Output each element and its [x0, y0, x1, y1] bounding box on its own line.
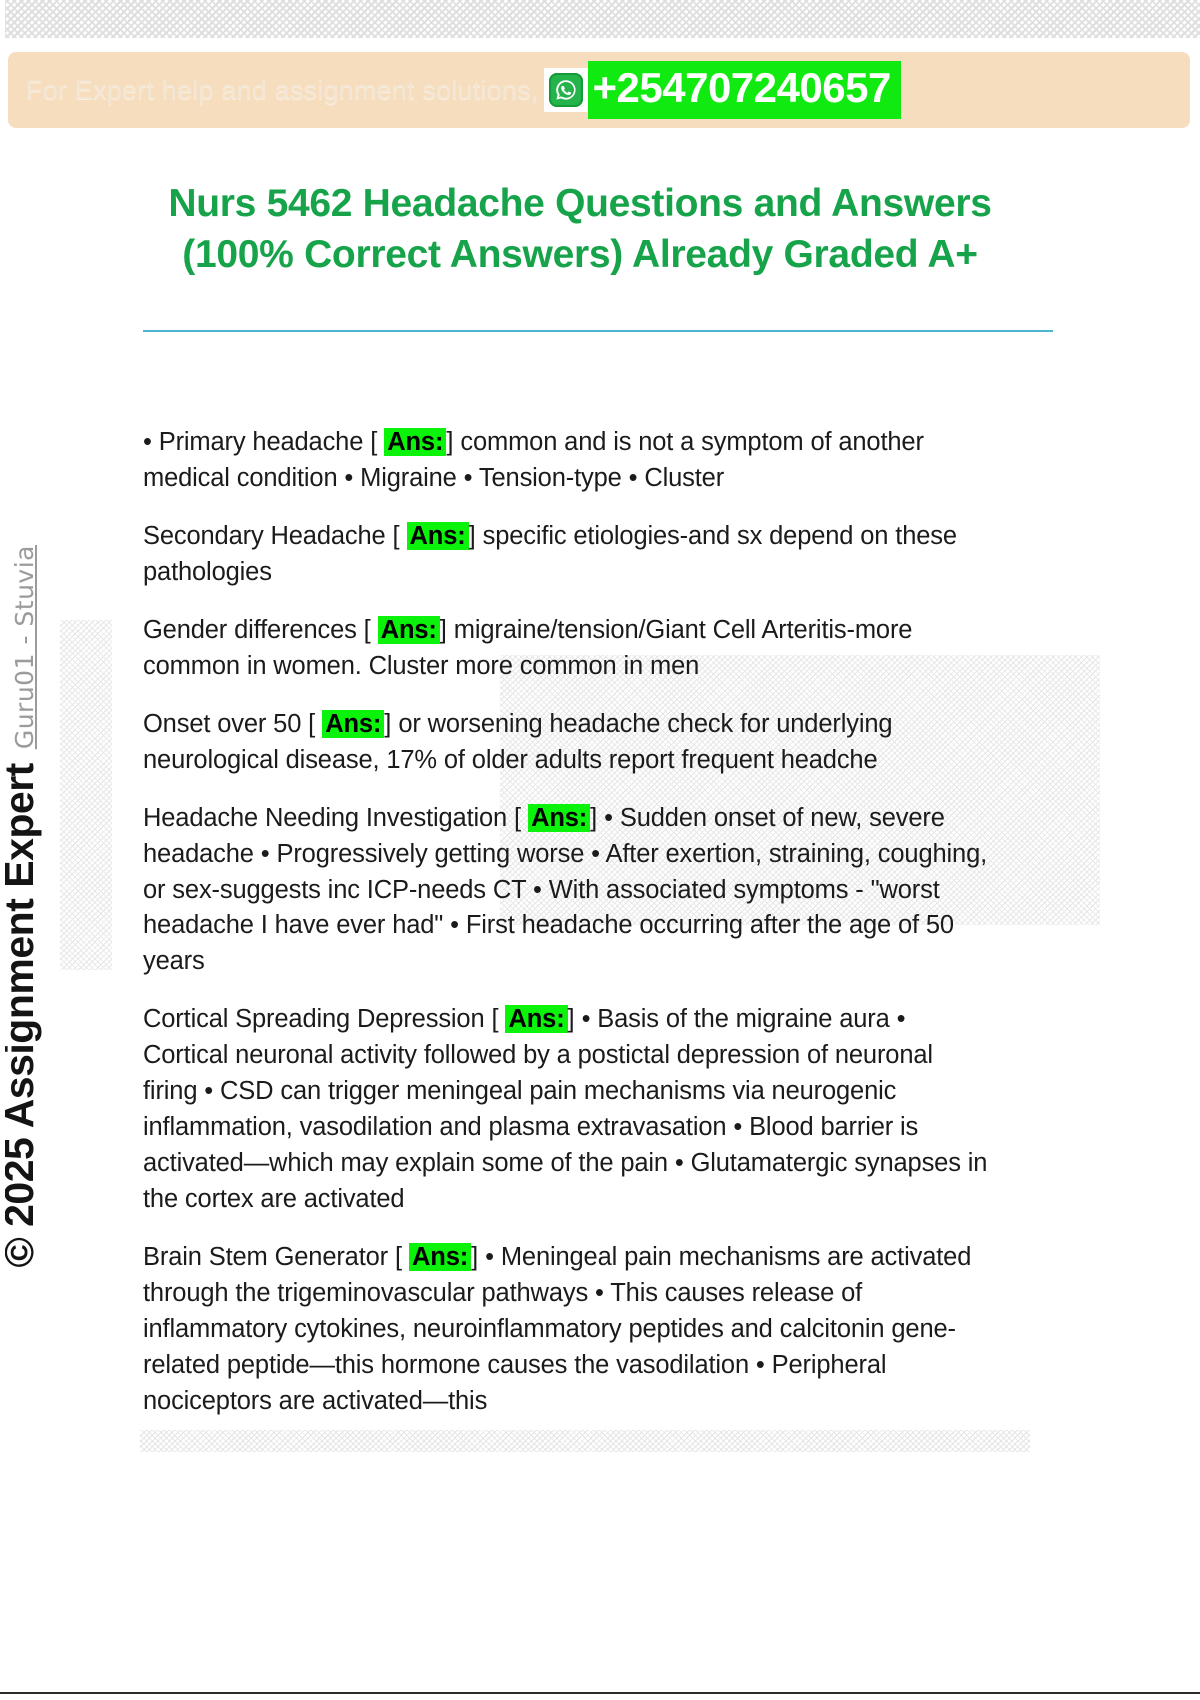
qa-paragraph-gender-differences: Gender differences [ Ans:] migraine/tens…	[143, 613, 988, 685]
qa-paragraph-secondary-headache: Secondary Headache [ Ans:] specific etio…	[143, 519, 988, 591]
bracket-close: ]	[590, 804, 597, 832]
page-left-edge	[0, 0, 5, 1700]
answer-tag: Ans:	[407, 522, 469, 550]
answer-tag: Ans:	[384, 428, 446, 456]
bracket-close: ]	[568, 1005, 575, 1033]
document-page: For Expert help and assignment solutions…	[0, 0, 1200, 1700]
question-lead: Secondary Headache	[143, 522, 386, 550]
bracket-close: ]	[384, 710, 391, 738]
whatsapp-icon	[549, 73, 583, 107]
question-lead: Gender differences	[143, 616, 357, 644]
question-lead: Cortical Spreading Depression	[143, 1005, 485, 1033]
document-body: • Primary headache [ Ans:] common and is…	[143, 425, 988, 1420]
top-texture-strip	[0, 0, 1200, 52]
copyright-watermark: © 2025 Assignment Expert	[0, 763, 43, 1267]
page-title: Nurs 5462 Headache Questions and Answers…	[140, 178, 1020, 281]
bracket-close: ]	[469, 522, 476, 550]
author-watermark: Guru01 - Stuvia	[10, 545, 39, 749]
whatsapp-badge	[544, 68, 588, 112]
answer-tag: Ans:	[378, 616, 440, 644]
contact-group[interactable]: +254707240657	[544, 61, 900, 119]
page-bottom-edge	[0, 1692, 1200, 1700]
bracket-open: [	[514, 804, 521, 832]
bracket-close: ]	[440, 616, 447, 644]
bracket-open: [	[491, 1005, 498, 1033]
qa-paragraph-primary-headache: • Primary headache [ Ans:] common and is…	[143, 425, 988, 497]
qa-paragraph-cortical-spreading-depression: Cortical Spreading Depression [ Ans:] • …	[143, 1002, 988, 1218]
title-divider	[143, 330, 1053, 332]
promo-text: For Expert help and assignment solutions…	[26, 75, 538, 106]
qa-paragraph-brain-stem-generator: Brain Stem Generator [ Ans:] • Meningeal…	[143, 1240, 988, 1420]
bracket-open: [	[393, 522, 400, 550]
qa-paragraph-onset-over-50: Onset over 50 [ Ans:] or worsening heada…	[143, 707, 988, 779]
bracket-open: [	[308, 710, 315, 738]
question-lead: Onset over 50	[143, 710, 301, 738]
answer-tag: Ans:	[322, 710, 384, 738]
answer-tag: Ans:	[409, 1243, 471, 1271]
answer-tag: Ans:	[505, 1005, 567, 1033]
side-watermark: © 2025 Assignment Expert Guru01 - Stuvia	[0, 545, 106, 1105]
bracket-open: [	[364, 616, 371, 644]
bracket-open: [	[395, 1243, 402, 1271]
whatsapp-phone-number[interactable]: +254707240657	[588, 61, 900, 119]
watermark-band-footer	[140, 1430, 1030, 1452]
answer-text: • Basis of the migraine aura • Cortical …	[143, 1005, 987, 1213]
promo-banner: For Expert help and assignment solutions…	[8, 52, 1190, 128]
question-lead: • Primary headache	[143, 428, 363, 456]
answer-tag: Ans:	[528, 804, 590, 832]
question-lead: Headache Needing Investigation	[143, 804, 507, 832]
bracket-open: [	[370, 428, 377, 456]
qa-paragraph-headache-needing-investigation: Headache Needing Investigation [ Ans:] •…	[143, 801, 988, 981]
question-lead: Brain Stem Generator	[143, 1243, 388, 1271]
bracket-close: ]	[471, 1243, 478, 1271]
watermark-band-left	[60, 620, 112, 970]
bracket-close: ]	[446, 428, 453, 456]
